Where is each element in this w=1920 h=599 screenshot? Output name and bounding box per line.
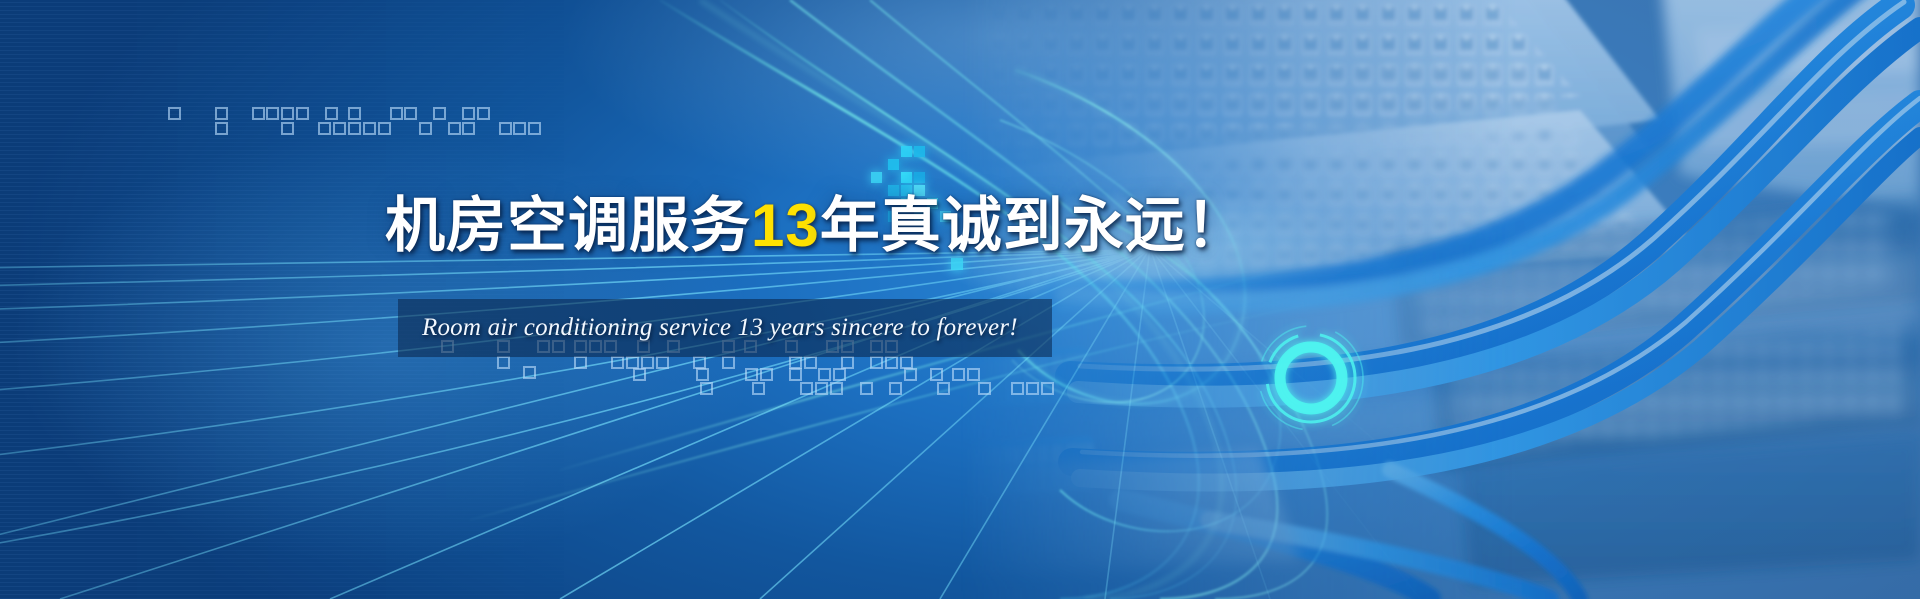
banner-subtitle-box: Room air conditioning service 13 years s… [398,299,1052,357]
headline-accent-years: 13 [751,192,820,259]
banner-headline: 机房空调服务13年真诚到永远！ [385,196,1205,256]
banner-copy: 机房空调服务13年真诚到永远！ [385,196,1205,256]
banner-subtitle: Room air conditioning service 13 years s… [398,314,1018,342]
headline-part-1: 机房空调服务 [385,192,751,259]
headline-part-2: 年真诚到永远！ [820,192,1247,259]
hero-banner: 机房空调服务13年真诚到永远！ Room air conditioning se… [0,0,1920,599]
